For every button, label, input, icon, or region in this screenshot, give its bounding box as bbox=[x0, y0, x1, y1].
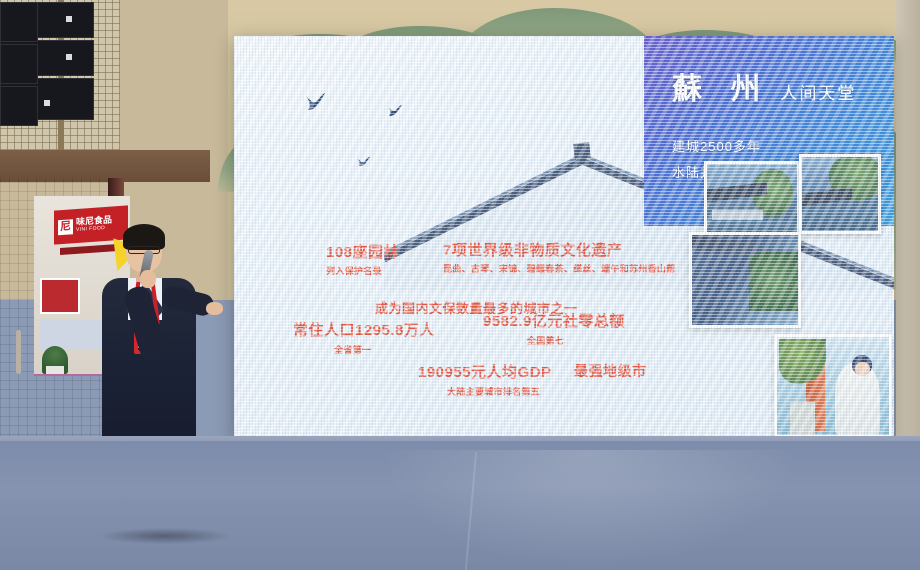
fact-headline: 108座园林 bbox=[326, 241, 399, 262]
fact-caption: 昆曲、古琴、宋锦、碧螺春茶、缂丝、端午和苏州香山帮 bbox=[443, 262, 676, 275]
floor-highlight bbox=[380, 450, 800, 570]
led-presentation-screen: 蘇 州 人间天堂 建城2500多年 水陆并行、河街相邻 bbox=[234, 36, 894, 441]
presenter-hand-right bbox=[206, 302, 223, 315]
stat-headline: 9582.9亿元社零总额 bbox=[483, 310, 625, 331]
slide-highlight-text: 最强地级市 bbox=[574, 361, 647, 381]
stat-caption: 大陆主要城市排名第五 bbox=[447, 385, 540, 398]
booth-panel-red bbox=[40, 278, 80, 314]
stat-caption: 全省第一 bbox=[334, 343, 371, 356]
slide-text-layer: 108座园林 列入保护名录 7项世界级非物质文化遗产 昆曲、古琴、宋锦、碧螺春茶… bbox=[234, 36, 894, 441]
door-handle[interactable] bbox=[16, 330, 21, 374]
stat-caption: 全国第七 bbox=[527, 334, 564, 347]
presenter-hand-left bbox=[140, 270, 156, 288]
right-wall-panel bbox=[896, 0, 920, 450]
stat-headline: 190955元人均GDP bbox=[418, 361, 552, 382]
presenter-shadow bbox=[100, 528, 230, 544]
fact-headline: 7项世界级非物质文化遗产 bbox=[443, 239, 622, 260]
stat-headline: 常住人口1295.8万人 bbox=[293, 319, 435, 340]
booth-logo-icon: 尼 bbox=[58, 219, 73, 235]
fact-caption: 列入保护名录 bbox=[326, 264, 382, 277]
conference-photo-scene: 尼 味尼食品 VINI FOOD bbox=[0, 0, 920, 570]
